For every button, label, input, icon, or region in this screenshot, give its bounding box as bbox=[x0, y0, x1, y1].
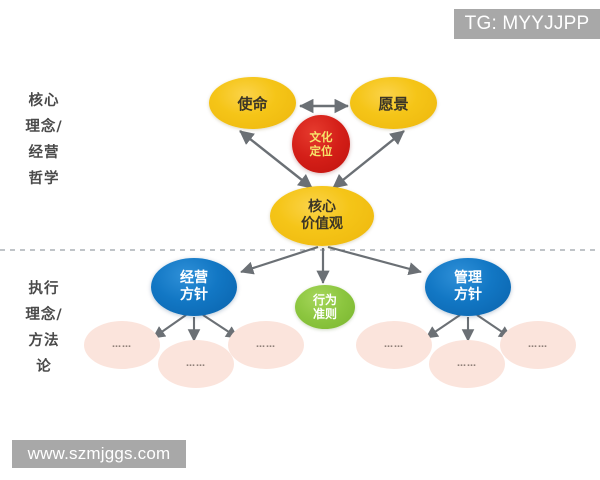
core-philosophy-label-line-3: 经营 bbox=[5, 140, 83, 166]
core-philosophy-label-line-2: 理念/ bbox=[5, 114, 83, 140]
leaf-node-label: …… bbox=[457, 359, 477, 369]
diagram-canvas: 核心 理念/ 经营 哲学 执行 理念/ 方法 论 使命 愿景 文化 定位 核心 … bbox=[0, 0, 600, 480]
node-code-of-conduct[interactable]: 行为 准则 bbox=[295, 285, 355, 329]
leaf-node-label: …… bbox=[528, 340, 548, 350]
node-mission[interactable]: 使命 bbox=[209, 77, 296, 129]
leaf-node-label: …… bbox=[384, 340, 404, 350]
core-philosophy-label-line-1: 核心 bbox=[5, 88, 83, 114]
execution-philosophy-label-line-4: 论 bbox=[5, 354, 83, 380]
node-management-policy[interactable]: 管理 方针 bbox=[425, 258, 511, 316]
arrow-biz-leaf-1 bbox=[153, 315, 186, 338]
node-vision[interactable]: 愿景 bbox=[350, 77, 437, 129]
core-philosophy-label-line-4: 哲学 bbox=[5, 166, 83, 192]
arrow-values-mgmt-policy bbox=[328, 247, 421, 272]
arrow-mgmt-leaf-1 bbox=[426, 315, 460, 338]
node-business-policy[interactable]: 经营 方针 bbox=[151, 258, 237, 316]
node-vision-label: 愿景 bbox=[378, 93, 408, 114]
leaf-node[interactable]: …… bbox=[356, 321, 432, 369]
node-code-of-conduct-line-2: 准则 bbox=[313, 307, 337, 321]
watermark-bottom-left: www.szmjggs.com bbox=[12, 440, 186, 468]
node-core-values-line-2: 价值观 bbox=[301, 216, 343, 233]
arrow-values-biz-policy bbox=[241, 247, 318, 272]
node-business-policy-line-2: 方针 bbox=[180, 287, 208, 304]
node-business-policy-line-1: 经营 bbox=[180, 270, 208, 287]
node-management-policy-line-1: 管理 bbox=[454, 270, 482, 287]
leaf-node[interactable]: …… bbox=[500, 321, 576, 369]
execution-philosophy-label-line-1: 执行 bbox=[5, 276, 83, 302]
node-core-values[interactable]: 核心 价值观 bbox=[270, 186, 374, 246]
node-cultural-positioning[interactable]: 文化 定位 bbox=[292, 115, 350, 173]
node-mission-label: 使命 bbox=[237, 93, 267, 114]
leaf-node[interactable]: …… bbox=[84, 321, 160, 369]
leaf-node[interactable]: …… bbox=[158, 340, 234, 388]
leaf-node-label: …… bbox=[256, 340, 276, 350]
node-cultural-positioning-line-1: 文化 bbox=[310, 130, 333, 144]
leaf-node-label: …… bbox=[112, 340, 132, 350]
execution-philosophy-label: 执行 理念/ 方法 论 bbox=[5, 276, 83, 380]
leaf-node[interactable]: …… bbox=[429, 340, 505, 388]
leaf-node[interactable]: …… bbox=[228, 321, 304, 369]
execution-philosophy-label-line-2: 理念/ bbox=[5, 302, 83, 328]
node-code-of-conduct-line-1: 行为 bbox=[313, 293, 337, 307]
node-cultural-positioning-line-2: 定位 bbox=[310, 144, 333, 158]
node-management-policy-line-2: 方针 bbox=[454, 287, 482, 304]
leaf-node-label: …… bbox=[186, 359, 206, 369]
execution-philosophy-label-line-3: 方法 bbox=[5, 328, 83, 354]
watermark-top-right: TG: MYYJJPP bbox=[454, 9, 600, 39]
node-core-values-line-1: 核心 bbox=[308, 199, 336, 216]
core-philosophy-label: 核心 理念/ 经营 哲学 bbox=[5, 88, 83, 192]
